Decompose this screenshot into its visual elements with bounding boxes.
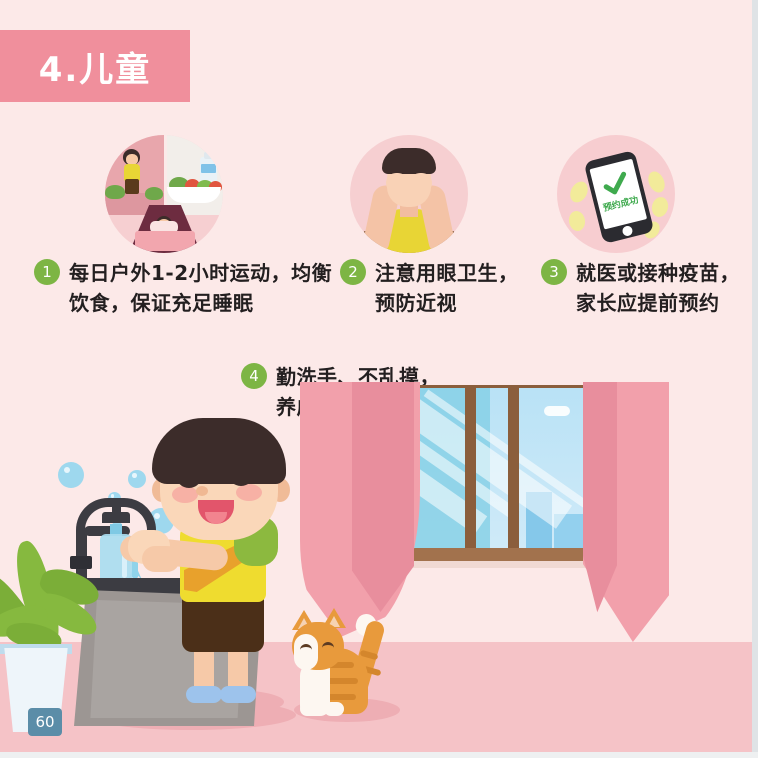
illustration-circle-appointment: 预约成功 xyxy=(557,135,675,253)
infographic-page: 4.儿童 xyxy=(0,0,758,758)
salad-bowl xyxy=(167,187,221,203)
window-mullion xyxy=(465,388,476,548)
section-title-banner: 4.儿童 xyxy=(0,30,190,102)
tip-item-1: 1 每日户外1-2小时运动，均衡 饮食，保证充足睡眠 xyxy=(34,258,334,318)
sparkle-icon xyxy=(567,210,586,232)
tip-item-2: 2 注意用眼卫生， 预防近视 xyxy=(340,258,540,318)
illustration-circle-exercise-diet-sleep xyxy=(105,135,223,253)
tip-badge-1: 1 xyxy=(34,259,60,285)
sparkle-icon xyxy=(567,179,591,206)
tip-text-2: 注意用眼卫生， 预防近视 xyxy=(375,258,519,318)
boy-hand-second xyxy=(142,546,180,572)
cat-eye xyxy=(300,644,312,653)
cat-paw xyxy=(324,702,344,716)
cloud-icon xyxy=(544,406,570,416)
section-title-text: 4.儿童 xyxy=(39,42,152,91)
soap-pump xyxy=(102,512,130,523)
tip-badge-3: 3 xyxy=(541,259,567,285)
eye-kid-hair xyxy=(382,148,436,174)
phone-home-button xyxy=(621,225,633,237)
cat-paw xyxy=(300,702,320,716)
bubble-icon xyxy=(128,470,146,488)
bush-icon xyxy=(145,187,163,200)
page-number-badge: 60 xyxy=(28,708,62,736)
sparkle-icon xyxy=(645,169,668,195)
tip-text-3: 就医或接种疫苗， 家长应提前预约 xyxy=(576,258,740,318)
curtain-left-fold xyxy=(352,382,414,612)
tip-badge-2: 2 xyxy=(340,259,366,285)
bubble-icon xyxy=(58,462,84,488)
boy-shoe xyxy=(220,686,256,703)
boy-cheek xyxy=(236,484,262,501)
window-glass xyxy=(398,388,608,548)
running-boy-shorts xyxy=(125,179,139,194)
water-bottle-cap xyxy=(204,152,213,159)
water-bottle-label xyxy=(201,164,216,173)
page-edge-bottom xyxy=(0,752,758,758)
eye-kid-left-hand xyxy=(386,173,408,193)
boy-shoe xyxy=(186,686,222,703)
tip-badge-4: 4 xyxy=(241,363,267,389)
illustration-circle-eye-care xyxy=(350,135,468,253)
faucet-base xyxy=(70,556,92,569)
tip-item-3: 3 就医或接种疫苗， 家长应提前预约 xyxy=(541,258,751,318)
bush-icon xyxy=(105,185,125,199)
bed xyxy=(135,231,195,251)
tip-text-1: 每日户外1-2小时运动，均衡 饮食，保证充足睡眠 xyxy=(69,258,332,318)
boy-cheek xyxy=(172,486,198,503)
phone-screen: 预约成功 xyxy=(589,159,647,230)
panel-divider xyxy=(164,135,167,213)
boy-nose xyxy=(196,486,208,496)
boy-hair xyxy=(152,418,286,484)
page-edge-right xyxy=(752,0,758,758)
smartphone-icon: 预约成功 xyxy=(584,150,655,244)
sparkle-icon xyxy=(650,195,670,218)
cat-eye xyxy=(322,642,334,651)
window-mullion xyxy=(508,388,519,548)
eye-kid-right-hand xyxy=(410,173,432,193)
